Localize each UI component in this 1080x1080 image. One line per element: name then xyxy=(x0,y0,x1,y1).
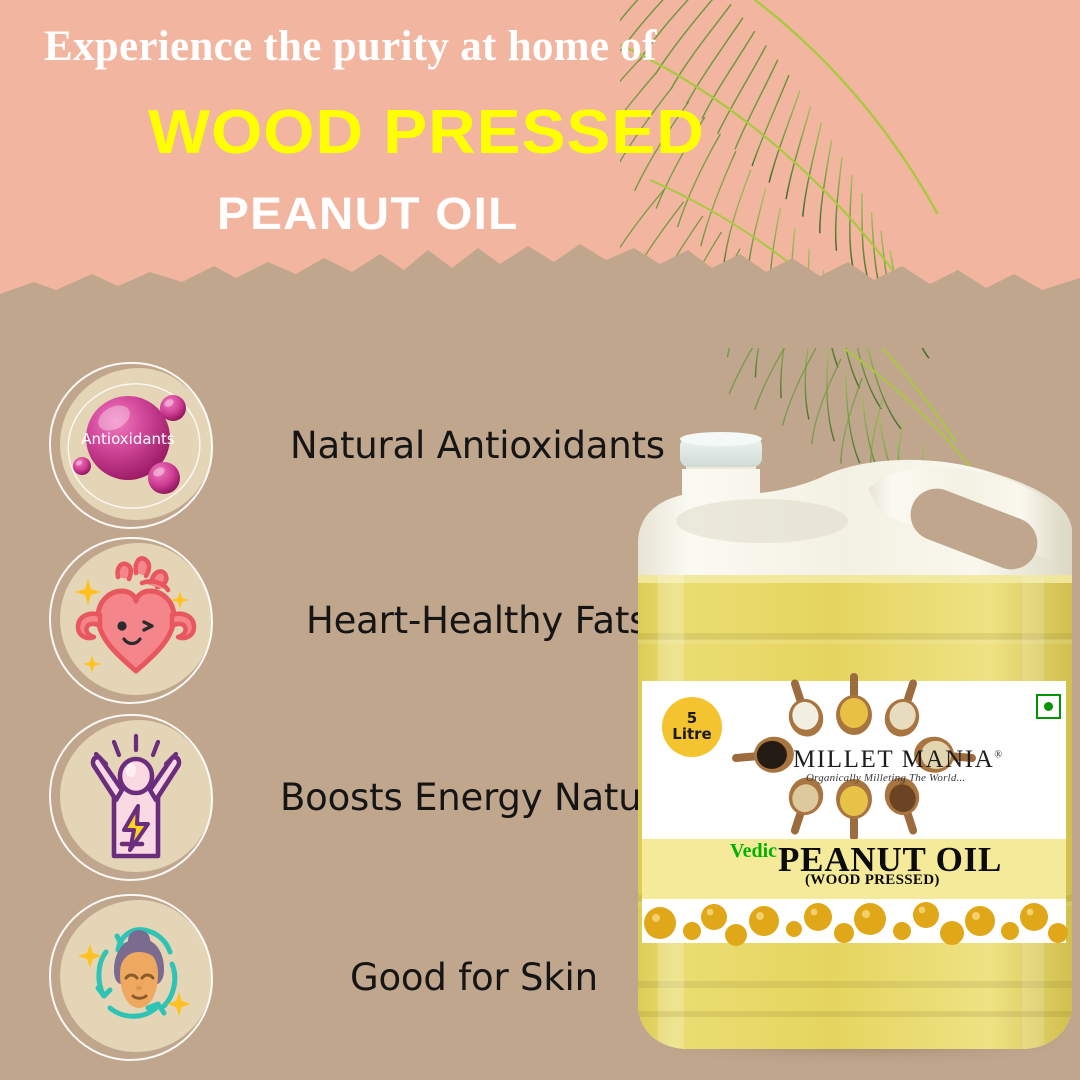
vedic-label: Vedic xyxy=(730,840,777,863)
flexing-heart-icon xyxy=(60,543,212,695)
brand-name-text: MILLET MANIA xyxy=(793,746,994,773)
headline-highlight: WOOD PRESSED xyxy=(148,97,705,168)
volume-unit: Litre xyxy=(672,727,711,743)
feature-row-heart: Heart-Healthy Fats xyxy=(46,533,666,708)
torn-paper-edge xyxy=(0,228,1080,348)
energy-icon-container xyxy=(46,712,228,884)
brand-registered-mark: ® xyxy=(994,750,1002,761)
skin-icon-container xyxy=(46,892,228,1064)
energy-person-lightning-icon xyxy=(60,720,212,872)
poster-canvas: Experience the purity at home of WOOD PR… xyxy=(0,0,1080,1080)
volume-badge: 5 Litre xyxy=(662,697,722,757)
antioxidant-icon-label: Antioxidants xyxy=(81,430,175,448)
feature-label-antioxidants: Natural Antioxidants xyxy=(290,424,665,467)
skin-face-refresh-icon xyxy=(60,900,212,1052)
feature-row-antioxidants: Antioxidants Natural Antioxidants xyxy=(46,358,666,533)
tagline-text: Experience the purity at home of xyxy=(44,22,657,71)
feature-row-energy: Boosts Energy Naturally xyxy=(46,710,666,885)
headline-subtitle: PEANUT OIL xyxy=(217,188,519,240)
feature-row-skin: Good for Skin xyxy=(46,890,666,1065)
antioxidant-icon-container: Antioxidants xyxy=(46,360,228,532)
brand-tagline: Organically Milleting The World... xyxy=(806,772,965,784)
antioxidant-molecule-icon: Antioxidants xyxy=(60,368,212,520)
brand-name: MILLET MANIA® xyxy=(793,746,1002,774)
veg-mark-icon xyxy=(1036,694,1061,719)
product-method: (WOOD PRESSED) xyxy=(805,872,940,889)
heart-icon-container xyxy=(46,535,228,707)
feature-label-skin: Good for Skin xyxy=(350,956,598,999)
feature-label-heart: Heart-Healthy Fats xyxy=(306,599,648,642)
